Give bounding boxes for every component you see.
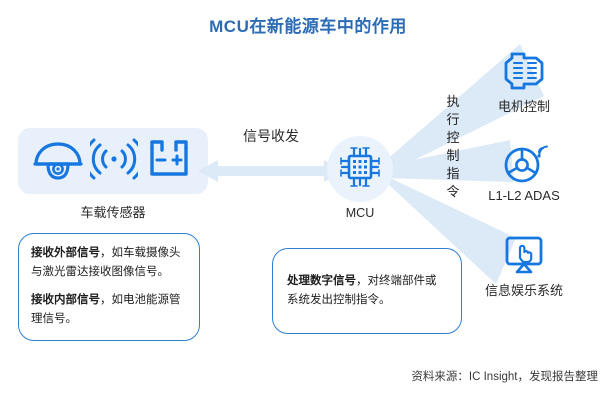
output-item-infotainment: 信息娱乐系统 [468,232,580,299]
mcu-desc-1-bold: 处理数字信号 [287,275,356,287]
page-title: MCU在新能源车中的作用 [0,12,616,37]
source-note: 资料来源：IC Insight，发现报告整理 [411,368,598,384]
command-char-0: 执 [444,93,462,111]
output-label-motor-control: 电机控制 [468,96,580,115]
sensor-description-card: 接收外部信号，如车载摄像头与激光雷达接收图像信号。 接收内部信号，如电池能源管理… [18,233,200,341]
command-vertical-label: 执 行 控 制 指 令 [444,93,462,201]
steering-wheel-icon [468,140,580,186]
mcu-node [327,136,393,202]
touchscreen-display-icon [468,232,580,278]
bidirectional-arrow-icon [198,157,344,185]
output-item-adas: L1-L2 ADAS [468,140,580,203]
mcu-chip-icon [336,143,384,196]
sensor-desc-1-bold: 接收外部信号 [31,247,100,259]
sensor-desc-paragraph-2: 接收内部信号，如电池能源管理信号。 [31,291,187,329]
signal-link-label: 信号收发 [198,126,344,146]
mcu-label: MCU [327,206,393,220]
sensor-desc-2-bold: 接收内部信号 [31,294,100,306]
command-char-3: 制 [444,147,462,165]
output-label-infotainment: 信息娱乐系统 [468,280,580,299]
mcu-desc-paragraph-1: 处理数字信号，对终端部件或系统发出控制指令。 [287,272,447,310]
sensor-desc-paragraph-1: 接收外部信号，如车载摄像头与激光雷达接收图像信号。 [31,244,187,282]
command-char-4: 指 [444,165,462,183]
radar-wave-icon [90,138,138,185]
output-label-adas: L1-L2 ADAS [468,188,580,203]
electric-motor-icon [468,48,580,94]
command-char-2: 控 [444,129,462,147]
car-battery-icon [144,138,194,185]
command-char-1: 行 [444,111,462,129]
mcu-description-card: 处理数字信号，对终端部件或系统发出控制指令。 [272,248,462,334]
output-item-motor-control: 电机控制 [468,48,580,115]
dome-camera-icon [32,138,84,185]
sensor-label: 车载传感器 [18,202,208,221]
sensor-icon-panel [18,128,208,194]
diagram-canvas: MCU在新能源车中的作用 [0,0,616,405]
command-char-5: 令 [444,183,462,201]
